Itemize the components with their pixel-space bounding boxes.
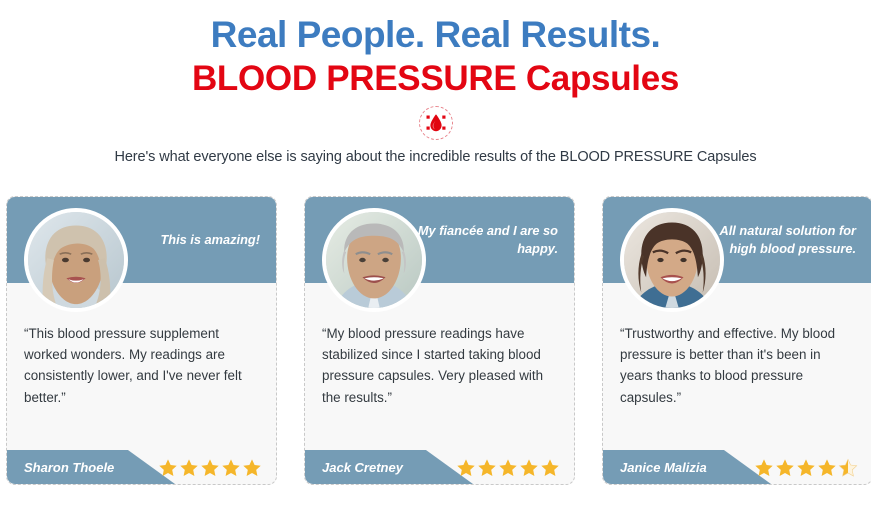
page-title-primary: Real People. Real Results.: [0, 14, 871, 57]
avatar: [620, 208, 724, 312]
card-header-band: This is amazing!: [7, 197, 276, 283]
card-header-band: All natural solution for high blood pres…: [603, 197, 871, 283]
star-icon-full: [817, 458, 837, 478]
star-icon-full: [540, 458, 560, 478]
reviewer-name-ribbon: Janice Malizia: [603, 450, 771, 484]
hero-header: Real People. Real Results. BLOOD PRESSUR…: [0, 0, 871, 165]
reviewer-name-ribbon: Sharon Thoele: [7, 450, 175, 484]
blood-drop-icon: [419, 106, 453, 140]
avatar: [24, 208, 128, 312]
star-icon-full: [221, 458, 241, 478]
testimonial-quote: “Trustworthy and effective. My blood pre…: [620, 323, 855, 408]
star-icon-full: [775, 458, 795, 478]
star-icon-full: [796, 458, 816, 478]
card-footer: Janice Malizia: [603, 446, 871, 484]
testimonial-card: This is amazing! “This blood pressure su…: [6, 196, 277, 485]
star-icon-full: [498, 458, 518, 478]
reviewer-name-ribbon: Jack Cretney: [305, 450, 473, 484]
card-footer: Sharon Thoele: [7, 446, 276, 484]
avatar: [322, 208, 426, 312]
page-subtitle: Here's what everyone else is saying abou…: [0, 149, 871, 165]
star-rating: [456, 458, 560, 478]
card-footer: Jack Cretney: [305, 446, 574, 484]
testimonial-card: All natural solution for high blood pres…: [602, 196, 871, 485]
star-icon-full: [242, 458, 262, 478]
star-rating: [754, 458, 858, 478]
star-icon-full: [158, 458, 178, 478]
star-icon-full: [179, 458, 199, 478]
star-icon-half: [838, 458, 858, 478]
page-title-secondary: BLOOD PRESSURE Capsules: [0, 58, 871, 99]
star-rating: [158, 458, 262, 478]
reviewer-name: Janice Malizia: [620, 460, 707, 475]
card-headline: This is amazing!: [160, 231, 260, 249]
reviewer-name: Jack Cretney: [322, 460, 403, 475]
star-icon-full: [519, 458, 539, 478]
star-icon-full: [456, 458, 476, 478]
star-icon-full: [477, 458, 497, 478]
reviewer-name: Sharon Thoele: [24, 460, 114, 475]
card-header-band: My fiancée and I are so happy.: [305, 197, 574, 283]
testimonial-card-list: This is amazing! “This blood pressure su…: [6, 196, 865, 485]
testimonial-card: My fiancée and I are so happy. “My blood…: [304, 196, 575, 485]
testimonial-quote: “This blood pressure supplement worked w…: [24, 323, 259, 408]
star-icon-full: [754, 458, 774, 478]
testimonial-quote: “My blood pressure readings have stabili…: [322, 323, 557, 408]
star-icon-full: [200, 458, 220, 478]
